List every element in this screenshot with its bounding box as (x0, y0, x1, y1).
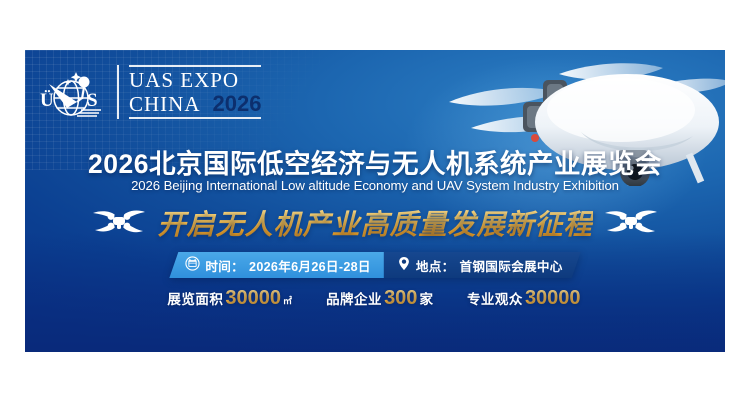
logo-line-1: UAS EXPO (129, 65, 261, 91)
stat-label: 品牌企业 (326, 288, 382, 308)
date-label: 时间： (205, 256, 244, 275)
expo-banner: Ü S UAS EXPO CHINA 2026 (25, 50, 725, 352)
stat-unit: ㎡ (283, 294, 292, 307)
title-english: 2026 Beijing International Low altitude … (25, 178, 725, 193)
logo-year: 2026 (213, 93, 262, 115)
slogan-text: 开启无人机产业高质量发展新征程 (157, 203, 592, 243)
stat-number: 30000 (524, 287, 582, 310)
drone-icon-right (603, 206, 659, 241)
logo-line-2: CHINA 2026 (129, 93, 261, 119)
stat-label: 专业观众 (467, 288, 523, 308)
place-segment: 地点： 首钢国际会展中心 (384, 252, 581, 278)
logo-wordmark: UAS EXPO CHINA 2026 (117, 65, 261, 119)
stat-item: 专业观众 30000 (467, 287, 583, 310)
stat-number: 30000 (224, 287, 282, 310)
drone-icon-left (91, 206, 147, 241)
satellite-globe-logo-icon: Ü S (37, 62, 109, 122)
date-segment: 时间： 2026年6月26日-28日 (169, 252, 384, 278)
place-label: 地点： (416, 256, 455, 275)
stat-number: 300 (383, 287, 418, 310)
place-value: 首钢国际会展中心 (460, 256, 563, 275)
logo[interactable]: Ü S UAS EXPO CHINA 2026 (37, 62, 261, 122)
stat-unit: 家 (419, 288, 433, 308)
stats-row: 展览面积 30000 ㎡ 品牌企业 300 家 专业观众 30000 (25, 287, 725, 310)
info-bar: 时间： 2026年6月26日-28日 地点： 首钢国际会展中心 (25, 252, 725, 278)
title-chinese: 2026北京国际低空经济与无人机系统产业展览会 (25, 142, 725, 181)
slogan-row: 开启无人机产业高质量发展新征程 (25, 200, 725, 246)
svg-text:S: S (87, 90, 98, 111)
map-pin-icon (397, 256, 411, 274)
date-value: 2026年6月26日-28日 (249, 256, 371, 275)
logo-china-text: CHINA (129, 94, 201, 115)
info-bar-inner: 时间： 2026年6月26日-28日 地点： 首钢国际会展中心 (169, 252, 580, 278)
svg-text:Ü: Ü (40, 90, 54, 111)
stat-item: 展览面积 30000 ㎡ (167, 287, 292, 310)
screenshot-canvas: Ü S UAS EXPO CHINA 2026 (0, 0, 750, 410)
stat-label: 展览面积 (167, 288, 223, 308)
stat-item: 品牌企业 300 家 (326, 287, 433, 310)
calendar-icon (185, 256, 200, 274)
